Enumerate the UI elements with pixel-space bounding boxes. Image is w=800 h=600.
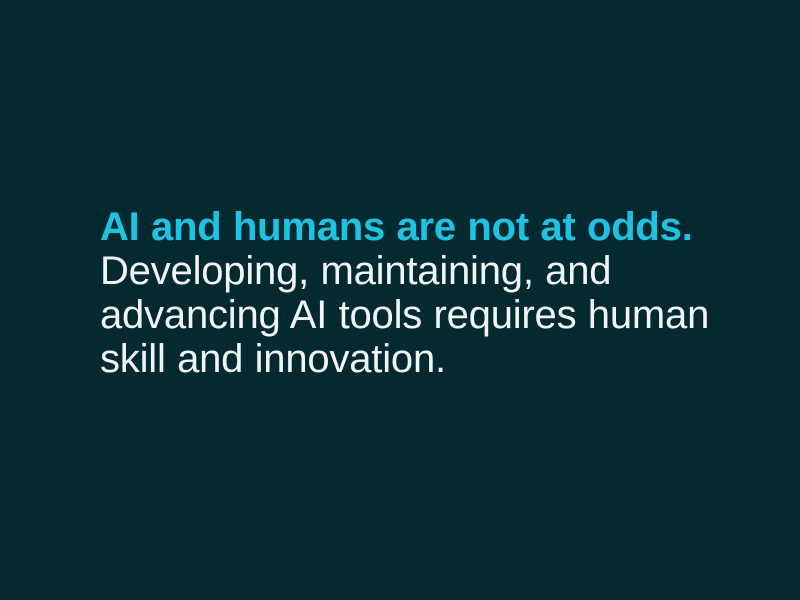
quote-block: AI and humans are not at odds. Developin…	[100, 205, 710, 381]
quote-body-text: Developing, maintaining, and advancing A…	[100, 249, 709, 381]
quote-slide: AI and humans are not at odds. Developin…	[0, 0, 800, 600]
quote-lead-phrase: AI and humans are not at odds.	[100, 205, 693, 249]
pull-quote: AI and humans are not at odds. Developin…	[100, 205, 710, 381]
